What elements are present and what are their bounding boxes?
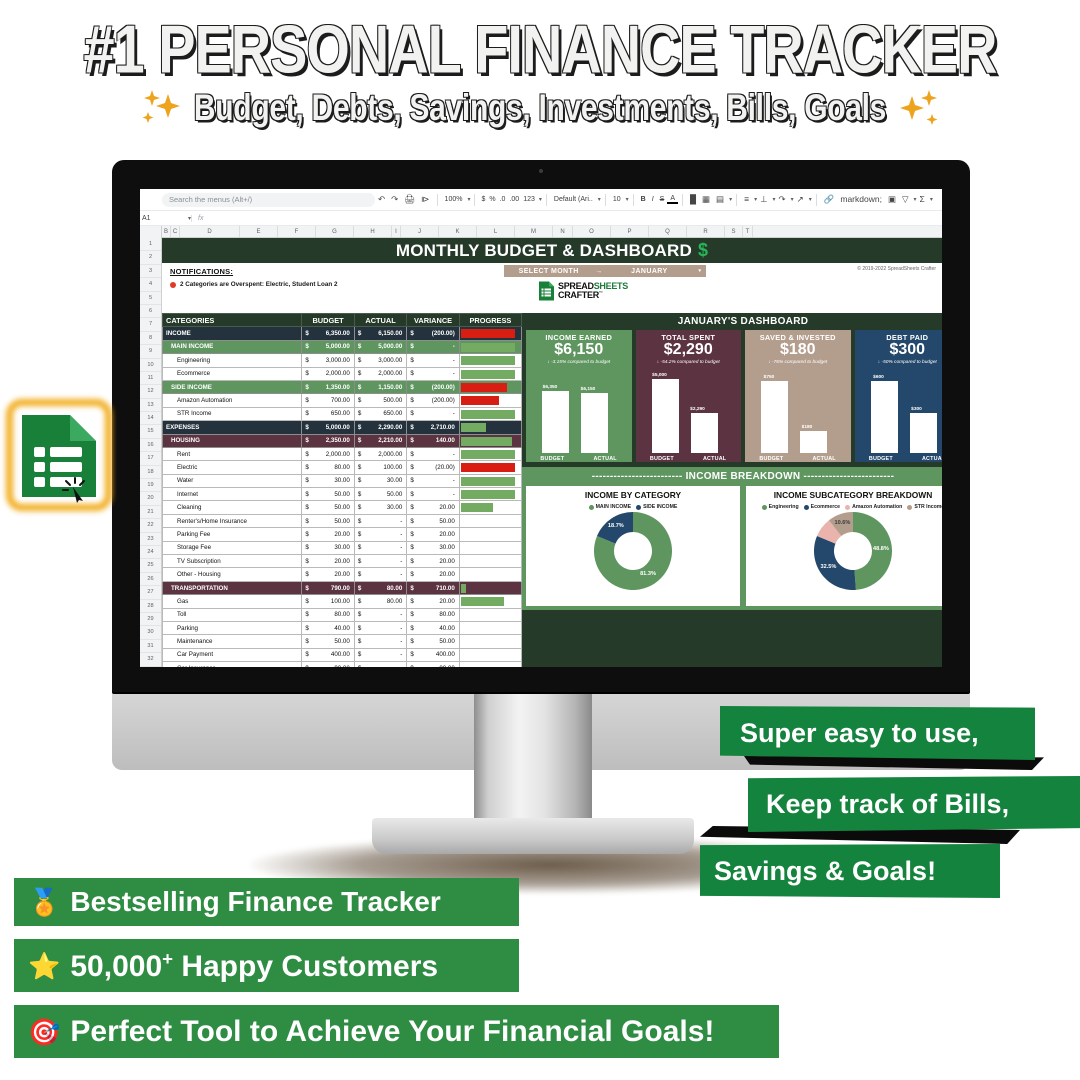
text-rotation-icon[interactable]: ↗ xyxy=(794,195,807,204)
cell-budget: $80.00 xyxy=(302,608,355,621)
row-header-24[interactable]: 24 xyxy=(140,546,161,559)
cell-variance: $710.00 xyxy=(407,581,460,594)
table-row[interactable]: EXPENSES$5,000.00$2,290.00$2,710.00 xyxy=(163,421,522,434)
italic-button[interactable]: I xyxy=(649,196,657,203)
progress-cell xyxy=(459,568,521,581)
progress-cell xyxy=(459,461,521,474)
copyright-text: © 2019-2022 SpreadSheets Crafter xyxy=(857,266,936,272)
cell-variance: $40.00 xyxy=(407,621,460,634)
category-name: Amazon Automation xyxy=(163,394,302,407)
kpi-value: $300 xyxy=(855,341,943,359)
column-header-M[interactable]: M xyxy=(515,226,553,237)
cell-budget: $20.00 xyxy=(302,555,355,568)
dashboard-title: JANUARY'S DASHBOARD xyxy=(522,313,942,330)
column-header-F[interactable]: F xyxy=(278,226,316,237)
cell-actual: $30.00 xyxy=(354,474,407,487)
functions-chevron-down-icon[interactable]: ▾ xyxy=(928,196,933,203)
row-header-9[interactable]: 9 xyxy=(140,345,161,358)
column-header-T[interactable]: T xyxy=(743,226,753,237)
table-row[interactable]: Storage Fee$30.00$-$30.00 xyxy=(163,541,522,554)
budget-col-budget: BUDGET xyxy=(302,314,355,327)
kpi-actual-label: $2,290 xyxy=(678,407,718,412)
table-row[interactable]: Water$30.00$30.00$- xyxy=(163,474,522,487)
table-row[interactable]: Car Insurance$90.00$-$90.00 xyxy=(163,662,522,667)
cell-variance: $(200.00) xyxy=(407,327,460,340)
progress-bar xyxy=(461,370,515,379)
column-header-K[interactable]: K xyxy=(439,226,477,237)
toolbar-divider xyxy=(633,194,634,206)
cell-variance: $- xyxy=(407,474,460,487)
column-header-I[interactable]: I xyxy=(392,226,401,237)
category-name: Parking Fee xyxy=(163,528,302,541)
ribbon-keep-track: Keep track of Bills, xyxy=(748,776,1080,832)
notifications-label: NOTIFICATIONS: xyxy=(170,267,504,276)
cell-budget: $2,000.00 xyxy=(302,367,355,380)
merge-chevron-down-icon[interactable]: ▾ xyxy=(727,196,732,203)
functions-icon[interactable]: Σ xyxy=(917,195,928,204)
table-row[interactable]: Gas$100.00$80.00$20.00 xyxy=(163,595,522,608)
cell-budget: $6,350.00 xyxy=(302,327,355,340)
row-header-31[interactable]: 31 xyxy=(140,640,161,653)
table-row[interactable]: Rent$2,000.00$2,000.00$- xyxy=(163,447,522,460)
progress-bar xyxy=(461,396,499,405)
table-row[interactable]: Car Payment$400.00$-$400.00 xyxy=(163,648,522,661)
cell-actual: $2,000.00 xyxy=(354,447,407,460)
legend-swatch xyxy=(907,505,912,510)
kpi-head: INCOME EARNED$6,150↓ -3.15% compared to … xyxy=(526,330,632,369)
merge-cells-icon[interactable]: ▤ xyxy=(713,195,727,204)
kpi-bar-chart: $750$180BUDGETACTUAL xyxy=(745,369,851,462)
cell-variance: $30.00 xyxy=(407,541,460,554)
row-headers[interactable]: 1234567891011121314151617181920212223242… xyxy=(140,238,162,667)
column-header-L[interactable]: L xyxy=(477,226,515,237)
row-header-20[interactable]: 20 xyxy=(140,492,161,505)
category-name: STR Income xyxy=(163,407,302,420)
chart-legend: MAIN INCOMESIDE INCOME xyxy=(528,504,738,510)
progress-cell xyxy=(459,447,521,460)
grid-area: MONTHLY BUDGET & DASHBOARD $ NOTIFICATIO… xyxy=(162,238,942,667)
kpi-actual-label: $300 xyxy=(897,407,937,412)
sheet-banner-title: MONTHLY BUDGET & DASHBOARD xyxy=(396,241,692,261)
brand-wordmark: SPREADSHEETS CRAFTER™ xyxy=(558,282,628,300)
cell-variance: $20.00 xyxy=(407,528,460,541)
donut-chart-card: INCOME SUBCATEGORY BREAKDOWNEngineeringE… xyxy=(746,486,942,606)
cell-actual: $- xyxy=(354,635,407,648)
category-name: Car Payment xyxy=(163,648,302,661)
budget-table-wrapper: CATEGORIESBUDGETACTUALVARIANCEPROGRESS I… xyxy=(162,313,522,667)
kpi-actual-bar xyxy=(691,413,718,453)
cell-budget: $80.00 xyxy=(302,461,355,474)
cell-budget: $50.00 xyxy=(302,635,355,648)
donut: 48.8%32.5%8.1%10.6% xyxy=(814,512,892,590)
cell-variance: $90.00 xyxy=(407,662,460,667)
cell-actual: $- xyxy=(354,608,407,621)
table-row[interactable]: MAIN INCOME$5,000.00$5,000.00$- xyxy=(163,340,522,353)
kpi-value: $6,150 xyxy=(526,341,632,359)
progress-cell xyxy=(459,555,521,568)
row-header-29[interactable]: 29 xyxy=(140,613,161,626)
category-name: TRANSPORTATION xyxy=(163,581,302,594)
column-header-C[interactable]: C xyxy=(171,226,180,237)
cell-budget: $400.00 xyxy=(302,648,355,661)
row-header-23[interactable]: 23 xyxy=(140,533,161,546)
kpi-subtext: ↓ -50% compared to budget xyxy=(855,360,943,365)
progress-bar xyxy=(461,463,515,472)
table-row[interactable]: Amazon Automation$700.00$500.00$(200.00) xyxy=(163,394,522,407)
strikethrough-button[interactable]: S xyxy=(657,196,668,203)
legend-swatch xyxy=(636,505,641,510)
axis-budget: BUDGET xyxy=(526,456,579,462)
progress-cell xyxy=(459,407,521,420)
category-name: INCOME xyxy=(163,327,302,340)
brand-logo: SPREADSHEETS CRAFTER™ xyxy=(538,281,628,301)
category-name: Parking xyxy=(163,621,302,634)
kpi-axis: BUDGETACTUAL xyxy=(636,456,742,462)
text-color-button[interactable]: A xyxy=(667,195,678,204)
category-name: Storage Fee xyxy=(163,541,302,554)
cell-actual: $50.00 xyxy=(354,488,407,501)
row-header-15[interactable]: 15 xyxy=(140,425,161,438)
kpi-actual-bar xyxy=(910,413,937,453)
kpi-value: $180 xyxy=(745,341,851,359)
kpi-budget-bar xyxy=(871,381,898,453)
kpi-head: TOTAL SPENT$2,290↓ -54.2% compared to bu… xyxy=(636,330,742,369)
increase-decimal-button[interactable]: .00 xyxy=(507,196,521,203)
progress-bar xyxy=(461,329,515,338)
legend-item: SIDE INCOME xyxy=(636,504,677,510)
progress-cell xyxy=(459,662,521,667)
row-header-1[interactable]: 1 xyxy=(140,238,161,251)
progress-bar xyxy=(461,503,493,512)
month-selector[interactable]: SELECT MONTH → JANUARY ▾ xyxy=(504,265,706,277)
dashboard-panel: JANUARY'S DASHBOARD INCOME EARNED$6,150↓… xyxy=(522,313,942,667)
progress-cell xyxy=(459,474,521,487)
table-row[interactable]: TRANSPORTATION$790.00$80.00$710.00 xyxy=(163,581,522,594)
cell-variance: $20.00 xyxy=(407,568,460,581)
row-header-19[interactable]: 19 xyxy=(140,479,161,492)
column-header-B[interactable]: B xyxy=(162,226,171,237)
kpi-budget-label: $5,000 xyxy=(640,373,680,378)
font-family-select[interactable]: Default (Ari.. xyxy=(551,196,596,203)
row-header-28[interactable]: 28 xyxy=(140,600,161,613)
row-header-30[interactable]: 30 xyxy=(140,626,161,639)
row-header-11[interactable]: 11 xyxy=(140,372,161,385)
borders-icon[interactable]: ▦ xyxy=(699,195,713,204)
table-row[interactable]: Parking$40.00$-$40.00 xyxy=(163,621,522,634)
month-chevron-down-icon[interactable]: ▾ xyxy=(694,268,706,274)
column-header-O[interactable]: O xyxy=(573,226,611,237)
cell-actual: $3,000.00 xyxy=(354,354,407,367)
axis-budget: BUDGET xyxy=(745,456,798,462)
cell-variance: $(200.00) xyxy=(407,394,460,407)
cell-actual: $80.00 xyxy=(354,581,407,594)
legend-label: Ecommerce xyxy=(811,504,840,510)
table-row[interactable]: SIDE INCOME$1,350.00$1,150.00$(200.00) xyxy=(163,380,522,393)
row-header-27[interactable]: 27 xyxy=(140,586,161,599)
cell-budget: $3,000.00 xyxy=(302,354,355,367)
text-wrap-icon[interactable]: ↷ xyxy=(776,195,789,204)
column-header-N[interactable]: N xyxy=(553,226,573,237)
cell-actual: $- xyxy=(354,555,407,568)
legend-item: STR Income xyxy=(907,504,942,510)
kpi-subtext: ↓ -3.15% compared to budget xyxy=(526,360,632,365)
row-header-26[interactable]: 26 xyxy=(140,573,161,586)
fill-color-icon[interactable]: █ xyxy=(687,195,699,204)
kpi-head: DEBT PAID$300↓ -50% compared to budget xyxy=(855,330,943,369)
cell-actual: $6,150.00 xyxy=(354,327,407,340)
poster-header: #1 PERSONAL FINANCE TRACKER Budget, Debt… xyxy=(0,0,1080,150)
percent-format-button[interactable]: % xyxy=(487,196,497,203)
table-row[interactable]: Internet$50.00$50.00$- xyxy=(163,488,522,501)
budget-col-progress: PROGRESS xyxy=(459,314,521,327)
row-header-18[interactable]: 18 xyxy=(140,466,161,479)
table-row[interactable]: Engineering$3,000.00$3,000.00$- xyxy=(163,354,522,367)
category-name: Cleaning xyxy=(163,501,302,514)
page-subtitle: Budget, Debts, Savings, Investments, Bil… xyxy=(194,88,886,129)
cell-variance: $50.00 xyxy=(407,514,460,527)
progress-cell xyxy=(459,608,521,621)
customer-suffix: Happy Customers xyxy=(173,950,438,983)
kpi-actual-label: $180 xyxy=(787,425,827,430)
cell-actual: $80.00 xyxy=(354,595,407,608)
kpi-axis: BUDGETACTUAL xyxy=(526,456,632,462)
progress-cell xyxy=(459,581,521,594)
cell-budget: $20.00 xyxy=(302,568,355,581)
sheets-icon xyxy=(22,415,96,497)
redo-icon[interactable]: ↷ xyxy=(388,195,401,204)
column-header-P[interactable]: P xyxy=(611,226,649,237)
cell-budget: $20.00 xyxy=(302,528,355,541)
table-row[interactable]: Cleaning$50.00$30.00$20.00 xyxy=(163,501,522,514)
kpi-card: INCOME EARNED$6,150↓ -3.15% compared to … xyxy=(526,330,632,462)
ribbon-super-easy: Super easy to use, xyxy=(720,706,1035,760)
search-input[interactable]: Search the menus (Alt+/) xyxy=(162,193,375,207)
progress-cell xyxy=(459,528,521,541)
row-header-6[interactable]: 6 xyxy=(140,305,161,318)
font-size-chevron-down-icon[interactable]: ▾ xyxy=(624,196,629,203)
category-name: Gas xyxy=(163,595,302,608)
budget-table-header: CATEGORIESBUDGETACTUALVARIANCEPROGRESS xyxy=(163,314,522,327)
toolbar-divider xyxy=(474,194,475,206)
cell-actual: $2,000.00 xyxy=(354,367,407,380)
progress-bar xyxy=(461,423,486,432)
rotation-chevron-down-icon[interactable]: ▾ xyxy=(807,196,812,203)
table-row[interactable]: HOUSING$2,350.00$2,210.00$140.00 xyxy=(163,434,522,447)
zoom-level[interactable]: 100% xyxy=(442,196,466,203)
cell-variance: $20.00 xyxy=(407,555,460,568)
table-row[interactable]: Ecommerce$2,000.00$2,000.00$- xyxy=(163,367,522,380)
column-header-R[interactable]: R xyxy=(687,226,725,237)
table-row[interactable]: Electric$80.00$100.00$(20.00) xyxy=(163,461,522,474)
table-row[interactable]: Maintenance$50.00$-$50.00 xyxy=(163,635,522,648)
chart-title: INCOME SUBCATEGORY BREAKDOWN xyxy=(748,490,942,500)
webcam-icon xyxy=(539,169,543,173)
row-header-17[interactable]: 17 xyxy=(140,452,161,465)
legend-item: Engineering xyxy=(762,504,799,510)
formula-bar: A1 ▾ fx xyxy=(140,211,942,226)
cell-budget: $30.00 xyxy=(302,474,355,487)
font-chevron-down-icon[interactable]: ▾ xyxy=(596,196,601,203)
cell-budget: $5,000.00 xyxy=(302,421,355,434)
category-name: Toll xyxy=(163,608,302,621)
table-row[interactable]: TV Subscription$20.00$-$20.00 xyxy=(163,555,522,568)
sheets-doc-icon xyxy=(538,281,555,301)
progress-bar xyxy=(461,450,515,459)
number-format-chevron-down-icon[interactable]: ▾ xyxy=(537,196,542,203)
progress-cell xyxy=(459,421,521,434)
row-header-7[interactable]: 7 xyxy=(140,318,161,331)
row-header-5[interactable]: 5 xyxy=(140,292,161,305)
row-header-21[interactable]: 21 xyxy=(140,506,161,519)
row-header-8[interactable]: 8 xyxy=(140,332,161,345)
budget-table-body: INCOME$6,350.00$6,150.00$(200.00)MAIN IN… xyxy=(163,327,522,667)
cell-actual: $- xyxy=(354,568,407,581)
kpi-budget-bar xyxy=(542,391,569,453)
sheet-body: 1234567891011121314151617181920212223242… xyxy=(140,238,942,667)
kpi-subtext: ↓ -54.2% compared to budget xyxy=(636,360,742,365)
category-name: Other - Housing xyxy=(163,568,302,581)
insert-comment-icon[interactable]: markdown; xyxy=(837,195,885,204)
category-name: Rent xyxy=(163,447,302,460)
kpi-actual-bar xyxy=(581,393,608,453)
progress-cell xyxy=(459,394,521,407)
name-box[interactable]: A1 xyxy=(140,215,186,222)
insert-image-icon[interactable]: ▣ xyxy=(885,195,899,204)
sparkle-left-icon xyxy=(138,86,184,132)
kpi-budget-label: $600 xyxy=(859,375,899,380)
column-header-E[interactable]: E xyxy=(240,226,278,237)
progress-cell xyxy=(459,595,521,608)
cell-variance: $- xyxy=(407,354,460,367)
select-month-label: SELECT MONTH xyxy=(504,268,593,275)
undo-icon[interactable]: ↶ xyxy=(375,195,388,204)
customer-count: 50,000 xyxy=(70,950,162,983)
category-name: Internet xyxy=(163,488,302,501)
legend-swatch xyxy=(845,505,850,510)
row-header-4[interactable]: 4 xyxy=(140,278,161,291)
cell-budget: $5,000.00 xyxy=(302,340,355,353)
print-icon[interactable]: 🖨 xyxy=(401,195,418,204)
cell-budget: $790.00 xyxy=(302,581,355,594)
kpi-bar-chart: $5,000$2,290BUDGETACTUAL xyxy=(636,369,742,462)
cell-actual: $100.00 xyxy=(354,461,407,474)
axis-actual: ACTUAL xyxy=(798,456,851,462)
kpi-card: TOTAL SPENT$2,290↓ -54.2% compared to bu… xyxy=(636,330,742,462)
table-row[interactable]: Renter's/Home Insurance$50.00$-$50.00 xyxy=(163,514,522,527)
cell-actual: $500.00 xyxy=(354,394,407,407)
cell-actual: $- xyxy=(354,662,407,667)
row-header-13[interactable]: 13 xyxy=(140,399,161,412)
sparkle-right-icon xyxy=(896,86,942,132)
table-row[interactable]: Parking Fee$20.00$-$20.00 xyxy=(163,528,522,541)
progress-cell xyxy=(459,327,521,340)
cell-budget: $2,000.00 xyxy=(302,447,355,460)
kpi-actual-label: $6,150 xyxy=(568,387,608,392)
legend-label: MAIN INCOME xyxy=(596,504,631,510)
budget-col-categories: CATEGORIES xyxy=(163,314,302,327)
donut-label: 48.8% xyxy=(873,546,889,552)
bold-button[interactable]: B xyxy=(638,196,649,203)
insert-link-icon[interactable]: 🔗 xyxy=(821,195,838,204)
column-header-Q[interactable]: Q xyxy=(649,226,687,237)
paint-format-icon[interactable]: ⧐ xyxy=(418,195,433,204)
cell-actual: $2,210.00 xyxy=(354,434,407,447)
column-header-S[interactable]: S xyxy=(725,226,743,237)
row-header-2[interactable]: 2 xyxy=(140,251,161,264)
row-header-16[interactable]: 16 xyxy=(140,439,161,452)
table-row[interactable]: INCOME$6,350.00$6,150.00$(200.00) xyxy=(163,327,522,340)
row-header-12[interactable]: 12 xyxy=(140,385,161,398)
axis-actual: ACTUAL xyxy=(579,456,632,462)
row-header-33[interactable]: 33 xyxy=(140,667,161,668)
cell-variance: $- xyxy=(407,340,460,353)
donut-slice xyxy=(814,536,856,590)
number-format-button[interactable]: 123 xyxy=(521,196,537,203)
sheet-banner: MONTHLY BUDGET & DASHBOARD $ xyxy=(162,238,942,263)
column-header-J[interactable]: J xyxy=(401,226,439,237)
progress-cell xyxy=(459,434,521,447)
legend-label: Engineering xyxy=(769,504,799,510)
donut-label: 32.5% xyxy=(820,564,836,570)
kpi-card-row: INCOME EARNED$6,150↓ -3.15% compared to … xyxy=(522,330,942,462)
cell-variance: $- xyxy=(407,447,460,460)
cell-variance: $(20.00) xyxy=(407,461,460,474)
column-header-H[interactable]: H xyxy=(354,226,392,237)
cursor-click-icon xyxy=(62,477,88,503)
legend-label: SIDE INCOME xyxy=(643,504,677,510)
progress-cell xyxy=(459,514,521,527)
cell-budget: $2,350.00 xyxy=(302,434,355,447)
cell-budget: $700.00 xyxy=(302,394,355,407)
table-row[interactable]: Other - Housing$20.00$-$20.00 xyxy=(163,568,522,581)
zoom-chevron-down-icon[interactable]: ▾ xyxy=(465,196,470,203)
bullet-customers-text: 50,000+ Happy Customers xyxy=(70,948,438,984)
axis-budget: BUDGET xyxy=(636,456,689,462)
table-row[interactable]: STR Income$650.00$650.00$- xyxy=(163,407,522,420)
horizontal-align-icon[interactable]: ≡ xyxy=(741,195,752,204)
decrease-decimal-button[interactable]: .0 xyxy=(498,196,508,203)
monitor-neck xyxy=(474,686,592,818)
column-headers[interactable]: BCDEFGHIJKLMNOPQRST xyxy=(162,226,942,238)
category-name: Car Insurance xyxy=(163,662,302,667)
progress-cell xyxy=(459,340,521,353)
legend-swatch xyxy=(762,505,767,510)
font-size-select[interactable]: 10 xyxy=(610,196,624,203)
monitor-bezel: Search the menus (Alt+/) ↶ ↷ 🖨 ⧐ 100% ▾ … xyxy=(112,160,970,692)
table-row[interactable]: Toll$80.00$-$80.00 xyxy=(163,608,522,621)
filter-icon[interactable]: ▽ xyxy=(899,195,912,204)
google-sheets-badge xyxy=(6,399,112,511)
currency-format-button[interactable]: $ xyxy=(479,196,487,203)
vertical-align-icon[interactable]: ⊥ xyxy=(757,195,770,204)
column-header-D[interactable]: D xyxy=(180,226,240,237)
bullet-bestselling-text: Bestselling Finance Tracker xyxy=(70,886,440,918)
cell-variance: $20.00 xyxy=(407,595,460,608)
cell-actual: $- xyxy=(354,528,407,541)
category-name: MAIN INCOME xyxy=(163,340,302,353)
brand-tm: ™ xyxy=(599,290,603,295)
row-header-22[interactable]: 22 xyxy=(140,519,161,532)
row-header-32[interactable]: 32 xyxy=(140,653,161,666)
row-header-14[interactable]: 14 xyxy=(140,412,161,425)
monitor-foot xyxy=(372,818,694,854)
row-header-3[interactable]: 3 xyxy=(140,265,161,278)
corner-select-all[interactable] xyxy=(140,226,162,238)
row-header-10[interactable]: 10 xyxy=(140,359,161,372)
row-header-25[interactable]: 25 xyxy=(140,559,161,572)
column-header-G[interactable]: G xyxy=(316,226,354,237)
bullet-customers: ⭐ 50,000+ Happy Customers xyxy=(14,939,519,992)
